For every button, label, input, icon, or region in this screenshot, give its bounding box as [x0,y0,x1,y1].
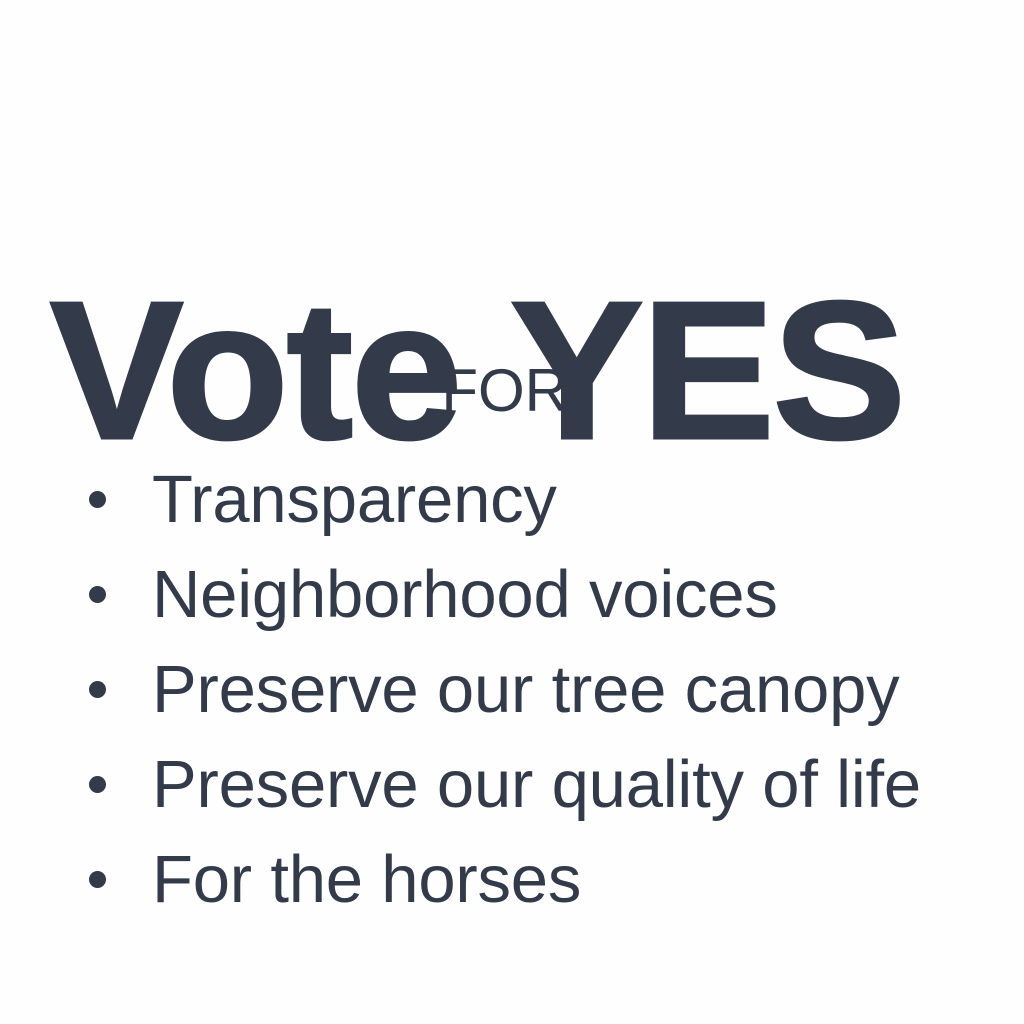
list-item: Preserve our tree canopy [0,642,1024,737]
for-label-text: FOR: [441,356,584,426]
list-item-label: For the horses [152,832,581,927]
bullet-dot-icon [89,681,106,698]
list-item: Preserve our quality of life [0,737,1024,832]
for-label: FOR: [0,356,1024,426]
vote-yes-poster: Vote YES FOR: Transparency Neighborhood … [0,0,1024,1024]
list-item: Neighborhood voices [0,547,1024,642]
list-item: Transparency [0,452,1024,547]
bullet-dot-icon [89,491,106,508]
list-item-label: Preserve our quality of life [152,737,921,832]
list-item-label: Neighborhood voices [152,547,778,642]
list-item: For the horses [0,832,1024,927]
list-item-label: Transparency [152,452,557,547]
reasons-list: Transparency Neighborhood voices Preserv… [0,452,1024,927]
list-item-label: Preserve our tree canopy [152,642,899,737]
bullet-dot-icon [89,776,106,793]
bullet-dot-icon [89,871,106,888]
bullet-dot-icon [89,586,106,603]
